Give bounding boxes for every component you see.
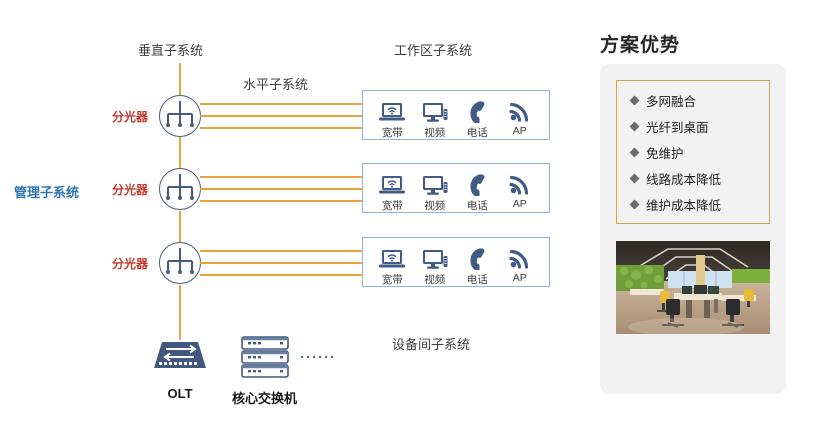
device-caption: 视频: [424, 198, 445, 213]
device-broadband-1: 宽带: [371, 97, 414, 140]
fiber-line-r3-1: [200, 250, 362, 252]
device-caption: 电话: [467, 272, 488, 287]
device-caption: 宽带: [382, 272, 403, 287]
splitter-label-2: 分光器: [112, 184, 148, 196]
horizontal-subsystem-label: 水平子系统: [243, 78, 308, 91]
diamond-bullet-icon: [630, 122, 640, 132]
work-area-device-box-3: 宽带 视频: [362, 237, 550, 287]
work-area-device-box-1: 宽带 视频: [362, 90, 550, 140]
list-item: 多网融合: [631, 91, 769, 110]
monitor-remote-icon: [421, 97, 449, 123]
device-video-3: 视频: [414, 244, 457, 287]
telephone-handset-icon: [465, 97, 489, 123]
device-caption: 宽带: [382, 125, 403, 140]
advantage-label: 免维护: [646, 143, 684, 162]
advantage-label: 多网融合: [646, 91, 696, 110]
diamond-bullet-icon: [630, 148, 640, 158]
device-telephone-3: 电话: [456, 244, 499, 287]
vertical-trunk-segment-1: [179, 137, 181, 169]
device-caption: AP: [513, 125, 527, 137]
fiber-line-r2-1: [200, 176, 362, 178]
fiber-line-r3-2: [200, 262, 362, 264]
panel-title: 方案优势: [600, 30, 680, 57]
wifi-signal-icon: [508, 97, 532, 123]
telephone-handset-icon: [465, 170, 489, 196]
device-caption: 视频: [424, 125, 445, 140]
vertical-subsystem-label: 垂直子系统: [138, 44, 203, 57]
diamond-bullet-icon: [630, 174, 640, 184]
laptop-wifi-icon: [378, 170, 406, 196]
office-interior-photo: [616, 241, 770, 334]
management-subsystem-label: 管理子系统: [14, 186, 79, 199]
fiber-line-r1-3: [200, 127, 362, 129]
equipment-caption: OLT: [167, 386, 192, 401]
advantages-list: 多网融合 光纤到桌面 免维护 线路成本降低 维护成本降低: [616, 80, 770, 224]
device-broadband-2: 宽带: [371, 170, 414, 213]
fiber-line-r1-1: [200, 103, 362, 105]
device-caption: 电话: [467, 198, 488, 213]
equipment-olt: OLT: [150, 336, 210, 401]
ellipsis-dots: ······: [300, 349, 336, 366]
monitor-remote-icon: [421, 170, 449, 196]
device-video-1: 视频: [414, 97, 457, 140]
list-item: 维护成本降低: [631, 195, 769, 214]
device-caption: AP: [513, 198, 527, 210]
telephone-handset-icon: [465, 244, 489, 270]
work-area-subsystem-label: 工作区子系统: [394, 44, 472, 57]
fiber-line-r1-2: [200, 115, 362, 117]
list-item: 免维护: [631, 143, 769, 162]
device-telephone-1: 电话: [456, 97, 499, 140]
fiber-line-r2-3: [200, 200, 362, 202]
optical-splitter-icon-3: [159, 242, 201, 284]
fiber-line-r3-3: [200, 274, 362, 276]
olt-switch-icon: [150, 336, 210, 383]
work-area-device-box-2: 宽带 视频: [362, 163, 550, 213]
optical-splitter-icon-1: [159, 95, 201, 137]
device-telephone-2: 电话: [456, 170, 499, 213]
wifi-signal-icon: [508, 170, 532, 196]
device-caption: 电话: [467, 125, 488, 140]
laptop-wifi-icon: [378, 97, 406, 123]
device-broadband-3: 宽带: [371, 244, 414, 287]
optical-splitter-icon-2: [159, 168, 201, 210]
diamond-bullet-icon: [630, 96, 640, 106]
device-caption: 宽带: [382, 198, 403, 213]
device-video-2: 视频: [414, 170, 457, 213]
advantage-label: 线路成本降低: [646, 169, 721, 188]
splitter-label-1: 分光器: [112, 111, 148, 123]
core-switch-stack-icon: [237, 334, 293, 385]
list-item: 线路成本降低: [631, 169, 769, 188]
vertical-trunk-segment-2: [179, 211, 181, 242]
laptop-wifi-icon: [378, 244, 406, 270]
device-ap-2: AP: [499, 170, 542, 210]
monitor-remote-icon: [421, 244, 449, 270]
diagram-canvas: 垂直子系统 水平子系统 工作区子系统 管理子系统 设备间子系统 分光器: [0, 0, 820, 421]
device-ap-1: AP: [499, 97, 542, 137]
fiber-line-r2-2: [200, 188, 362, 190]
device-ap-3: AP: [499, 244, 542, 284]
equipment-room-subsystem-label: 设备间子系统: [392, 338, 470, 351]
vertical-trunk-segment-bottom: [179, 285, 181, 340]
advantage-label: 维护成本降低: [646, 195, 721, 214]
device-caption: 视频: [424, 272, 445, 287]
splitter-label-3: 分光器: [112, 258, 148, 270]
wifi-signal-icon: [508, 244, 532, 270]
advantage-label: 光纤到桌面: [646, 117, 709, 136]
equipment-core-switch: 核心交换机: [232, 334, 297, 407]
equipment-caption: 核心交换机: [232, 388, 297, 407]
diamond-bullet-icon: [630, 200, 640, 210]
device-caption: AP: [513, 272, 527, 284]
list-item: 光纤到桌面: [631, 117, 769, 136]
